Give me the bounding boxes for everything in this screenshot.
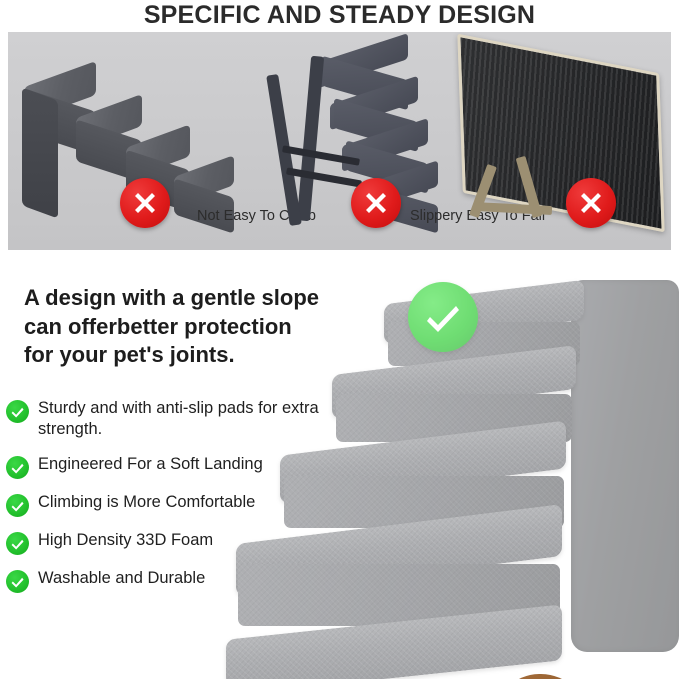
dog-head	[493, 674, 589, 679]
headline-line-1: A design with a gentle slope	[24, 284, 354, 313]
wooden-carpet-ramp-image	[450, 52, 665, 227]
headline-line-3: for your pet's joints.	[24, 341, 354, 370]
feature-list: Sturdy and with anti-slip pads for extra…	[6, 398, 336, 606]
check-icon	[6, 494, 29, 517]
list-item: Sturdy and with anti-slip pads for extra…	[6, 398, 336, 440]
comparison-panel: Not Easy To Climb	[8, 32, 671, 250]
reject-badge-3	[566, 178, 616, 228]
list-item: High Density 33D Foam	[6, 530, 336, 555]
list-item: Climbing is More Comfortable	[6, 492, 336, 517]
approve-badge	[408, 282, 478, 352]
feature-text: Washable and Durable	[38, 568, 205, 589]
comparison-item-3	[438, 32, 671, 250]
feature-text: Sturdy and with anti-slip pads for extra…	[38, 398, 336, 440]
page-title: SPECIFIC AND STEADY DESIGN	[0, 0, 679, 30]
feature-text: Climbing is More Comfortable	[38, 492, 255, 513]
check-icon	[6, 570, 29, 593]
pet-beagle-image	[463, 670, 679, 679]
reject-badge-2	[351, 178, 401, 228]
headline-line-2: can offerbetter protection	[24, 313, 354, 342]
benefits-panel: A design with a gentle slope can offerbe…	[0, 252, 679, 679]
list-item: Washable and Durable	[6, 568, 336, 593]
infographic-root: SPECIFIC AND STEADY DESIGN Not Easy To	[0, 0, 679, 679]
headline: A design with a gentle slope can offerbe…	[24, 284, 354, 370]
check-icon	[6, 456, 29, 479]
list-item: Engineered For a Soft Landing	[6, 454, 336, 479]
check-icon	[6, 532, 29, 555]
feature-text: High Density 33D Foam	[38, 530, 213, 551]
comparison-item-1: Not Easy To Climb	[8, 32, 248, 250]
feature-text: Engineered For a Soft Landing	[38, 454, 263, 475]
comparison-item-2: Slippery Easy To Fall	[246, 32, 446, 250]
reject-badge-1	[120, 178, 170, 228]
check-icon	[6, 400, 29, 423]
product-sidewall	[571, 280, 679, 652]
